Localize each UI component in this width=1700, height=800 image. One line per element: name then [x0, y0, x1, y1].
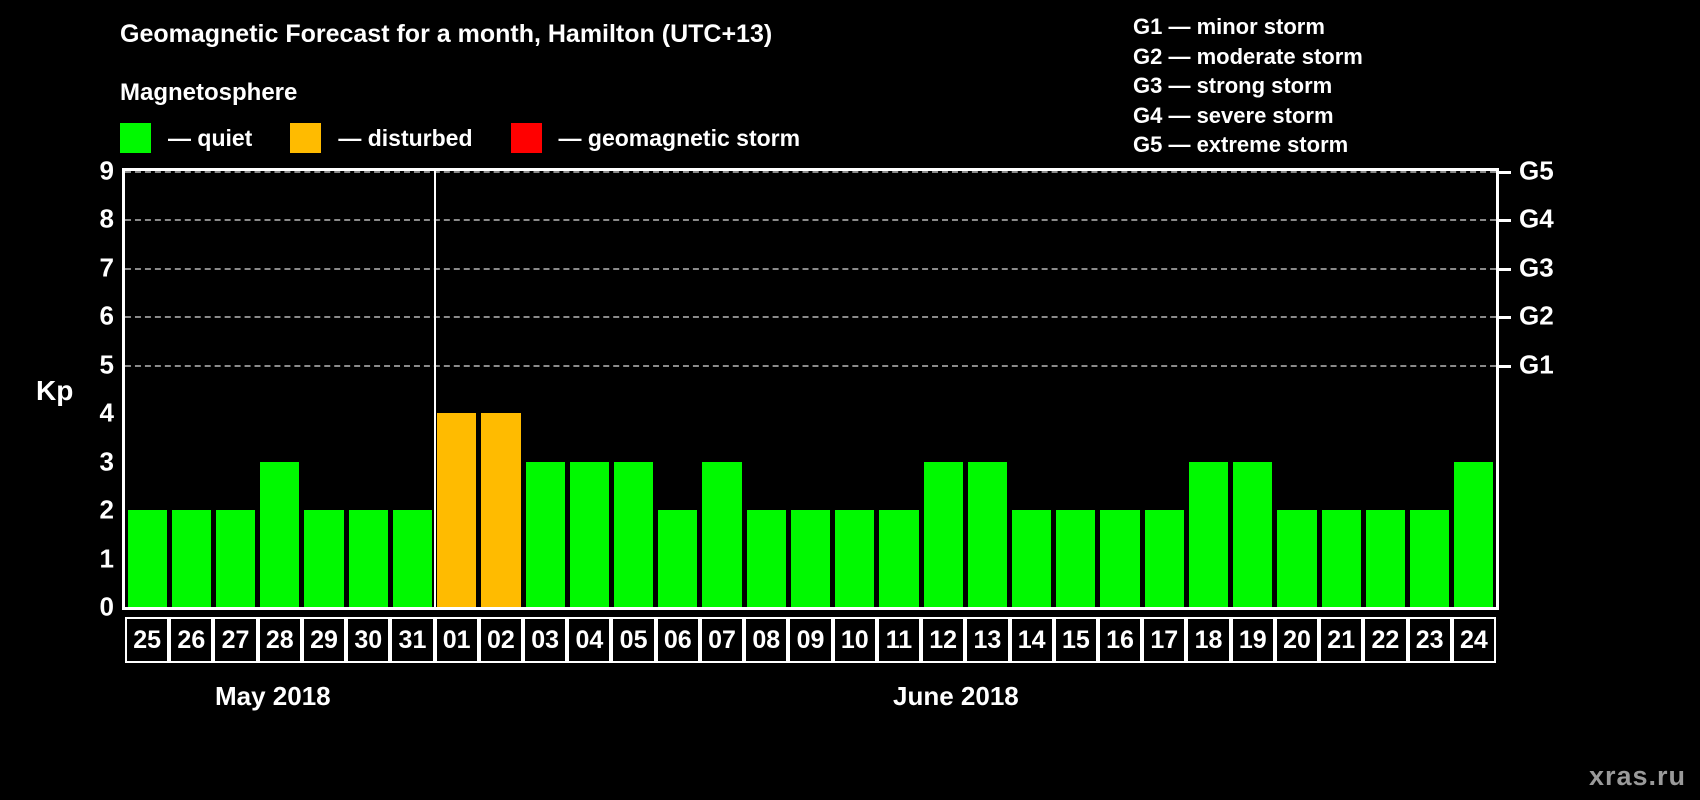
y-tick-0: 0 [74, 592, 114, 623]
legend-label-quiet: — quiet [168, 125, 252, 152]
date-cell-02[interactable]: 02 [479, 617, 523, 663]
g-axis-tick-G2: G2 [1519, 301, 1554, 332]
bar-day-15 [1056, 510, 1095, 607]
bar-day-22 [1366, 510, 1405, 607]
bar-day-05 [614, 462, 653, 607]
date-cell-10[interactable]: 10 [833, 617, 877, 663]
bar-day-11 [879, 510, 918, 607]
date-cell-24[interactable]: 24 [1452, 617, 1496, 663]
legend-heading: Magnetosphere [120, 79, 297, 107]
bar-day-26 [172, 510, 211, 607]
bar-day-12 [924, 462, 963, 607]
y-axis-label: Kp [36, 375, 73, 407]
date-cell-04[interactable]: 04 [567, 617, 611, 663]
legend-swatch-geomagnetic-storm [511, 123, 542, 153]
bar-day-07 [702, 462, 741, 607]
month-caption-may-2018: May 2018 [215, 681, 331, 712]
bar-day-28 [260, 462, 299, 607]
date-cell-05[interactable]: 05 [611, 617, 655, 663]
date-cell-18[interactable]: 18 [1186, 617, 1230, 663]
date-cell-08[interactable]: 08 [744, 617, 788, 663]
geomagnetic-forecast-chart: Geomagnetic Forecast for a month, Hamilt… [0, 0, 1700, 800]
bar-day-29 [304, 510, 343, 607]
date-cell-28[interactable]: 28 [258, 617, 302, 663]
bar-day-02 [481, 413, 520, 607]
month-separator [434, 171, 436, 607]
g-scale-line-2: G2 — moderate storm [1133, 42, 1363, 72]
g-axis-tick-mark-G4 [1499, 219, 1511, 222]
bar-day-08 [747, 510, 786, 607]
bar-day-19 [1233, 462, 1272, 607]
bar-day-10 [835, 510, 874, 607]
watermark: xras.ru [1589, 761, 1686, 792]
g-axis-tick-mark-G5 [1499, 171, 1511, 174]
bar-day-06 [658, 510, 697, 607]
y-tick-6: 6 [74, 301, 114, 332]
bar-day-09 [791, 510, 830, 607]
date-cell-09[interactable]: 09 [788, 617, 832, 663]
date-cell-03[interactable]: 03 [523, 617, 567, 663]
legend-swatch-quiet [120, 123, 151, 153]
bar-day-18 [1189, 462, 1228, 607]
date-cell-27[interactable]: 27 [213, 617, 257, 663]
y-tick-2: 2 [74, 495, 114, 526]
legend-label-geomagnetic-storm: — geomagnetic storm [559, 125, 801, 152]
magnetosphere-legend: — quiet— disturbed— geomagnetic storm [120, 123, 800, 153]
date-cell-31[interactable]: 31 [390, 617, 434, 663]
g-axis-tick-mark-G3 [1499, 268, 1511, 271]
y-tick-9: 9 [74, 156, 114, 187]
bar-day-24 [1454, 462, 1493, 607]
bar-day-17 [1145, 510, 1184, 607]
date-cell-14[interactable]: 14 [1010, 617, 1054, 663]
bar-day-04 [570, 462, 609, 607]
g-scale-legend: G1 — minor stormG2 — moderate stormG3 — … [1133, 12, 1363, 160]
g-scale-line-4: G4 — severe storm [1133, 101, 1363, 131]
month-caption-june-2018: June 2018 [893, 681, 1019, 712]
bar-series [125, 171, 1496, 607]
legend-label-disturbed: — disturbed [338, 125, 472, 152]
g-axis-tick-mark-G1 [1499, 365, 1511, 368]
g-axis-tick-G4: G4 [1519, 204, 1554, 235]
bar-day-20 [1277, 510, 1316, 607]
date-cell-06[interactable]: 06 [656, 617, 700, 663]
date-cell-15[interactable]: 15 [1054, 617, 1098, 663]
bar-day-16 [1100, 510, 1139, 607]
legend-item-geomagnetic-storm: — geomagnetic storm [511, 123, 801, 153]
g-scale-line-1: G1 — minor storm [1133, 12, 1363, 42]
g-axis-tick-G1: G1 [1519, 349, 1554, 380]
y-tick-1: 1 [74, 543, 114, 574]
g-scale-line-3: G3 — strong storm [1133, 71, 1363, 101]
g-axis-ticks: G5G4G3G2G1 [1499, 168, 1619, 607]
date-cell-21[interactable]: 21 [1319, 617, 1363, 663]
date-cell-20[interactable]: 20 [1275, 617, 1319, 663]
date-cell-17[interactable]: 17 [1142, 617, 1186, 663]
date-cell-19[interactable]: 19 [1231, 617, 1275, 663]
bar-day-27 [216, 510, 255, 607]
date-cell-23[interactable]: 23 [1408, 617, 1452, 663]
y-tick-3: 3 [74, 446, 114, 477]
date-axis: 2526272829303101020304050607080910111213… [122, 617, 1499, 663]
y-tick-4: 4 [74, 398, 114, 429]
bar-day-30 [349, 510, 388, 607]
g-axis-tick-G5: G5 [1519, 156, 1554, 187]
date-cell-07[interactable]: 07 [700, 617, 744, 663]
date-cell-13[interactable]: 13 [965, 617, 1009, 663]
date-cell-26[interactable]: 26 [169, 617, 213, 663]
bar-day-23 [1410, 510, 1449, 607]
date-cell-01[interactable]: 01 [435, 617, 479, 663]
date-cell-29[interactable]: 29 [302, 617, 346, 663]
g-scale-line-5: G5 — extreme storm [1133, 130, 1363, 160]
y-tick-5: 5 [74, 349, 114, 380]
bar-day-14 [1012, 510, 1051, 607]
date-cell-30[interactable]: 30 [346, 617, 390, 663]
bar-day-25 [128, 510, 167, 607]
date-cell-11[interactable]: 11 [877, 617, 921, 663]
legend-item-disturbed: — disturbed [290, 123, 472, 153]
page-title: Geomagnetic Forecast for a month, Hamilt… [120, 20, 772, 49]
date-cell-22[interactable]: 22 [1363, 617, 1407, 663]
date-cell-16[interactable]: 16 [1098, 617, 1142, 663]
legend-swatch-disturbed [290, 123, 321, 153]
y-tick-7: 7 [74, 252, 114, 283]
g-axis-tick-G3: G3 [1519, 252, 1554, 283]
date-cell-12[interactable]: 12 [921, 617, 965, 663]
bar-day-03 [526, 462, 565, 607]
plot-area [122, 168, 1499, 610]
bar-day-21 [1322, 510, 1361, 607]
bar-day-13 [968, 462, 1007, 607]
g-axis-tick-mark-G2 [1499, 316, 1511, 319]
date-cell-25[interactable]: 25 [125, 617, 169, 663]
bar-day-01 [437, 413, 476, 607]
bar-day-31 [393, 510, 432, 607]
y-tick-8: 8 [74, 204, 114, 235]
legend-item-quiet: — quiet [120, 123, 252, 153]
